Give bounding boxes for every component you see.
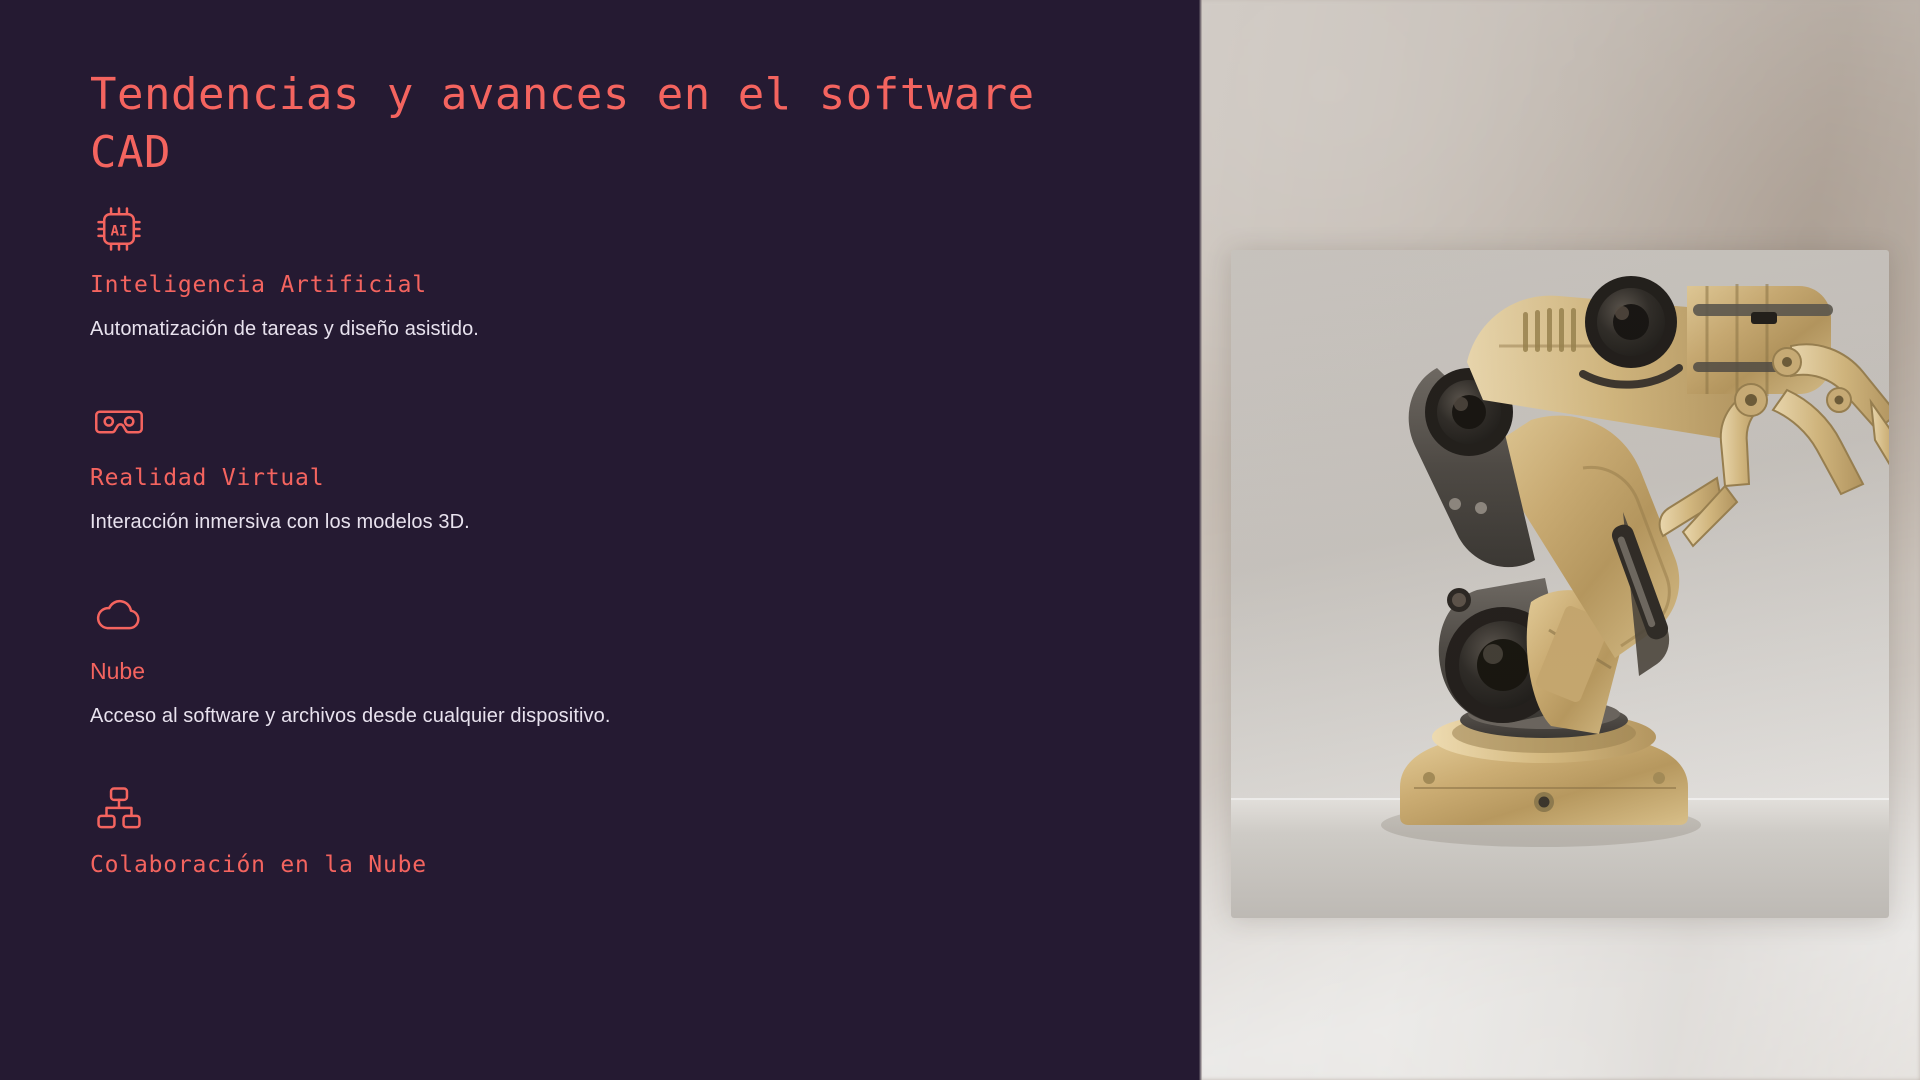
feature-title: Realidad Virtual [90,465,1199,491]
robot-arm-image-card [1231,250,1889,918]
slide: Tendencias y avances en el software CAD … [0,0,1920,1080]
spacer [90,544,1199,590]
page-title: Tendencias y avances en el software CAD [90,66,1110,182]
content-panel: Tendencias y avances en el software CAD … [0,0,1199,1080]
media-panel [1199,0,1920,1080]
robot-arm-illustration [1231,250,1889,918]
feature-title: Inteligencia Artificial [90,272,1199,298]
feature-item-inteligencia-artificial: AI Inteligencia Artificial Automatizació… [90,204,1199,341]
cloud-icon [90,590,148,640]
spacer [90,351,1199,397]
svg-text:AI: AI [110,223,127,239]
panel-divider [1199,0,1202,1080]
feature-description: Interacción inmersiva con los modelos 3D… [90,511,1199,534]
feature-item-colaboracion-en-la-nube: Colaboración en la Nube [90,784,1199,878]
feature-title: Nube [90,658,1199,685]
network-hierarchy-icon [90,784,148,834]
feature-description: Acceso al software y archivos desde cual… [90,705,1199,728]
spacer [90,738,1199,784]
feature-list: AI Inteligencia Artificial Automatizació… [90,204,1199,878]
feature-description: Automatización de tareas y diseño asisti… [90,318,1199,341]
feature-item-nube: Nube Acceso al software y archivos desde… [90,590,1199,728]
feature-title: Colaboración en la Nube [90,852,1199,878]
feature-item-realidad-virtual: Realidad Virtual Interacción inmersiva c… [90,397,1199,534]
vr-goggles-icon [90,397,148,447]
ai-chip-icon: AI [90,204,148,254]
